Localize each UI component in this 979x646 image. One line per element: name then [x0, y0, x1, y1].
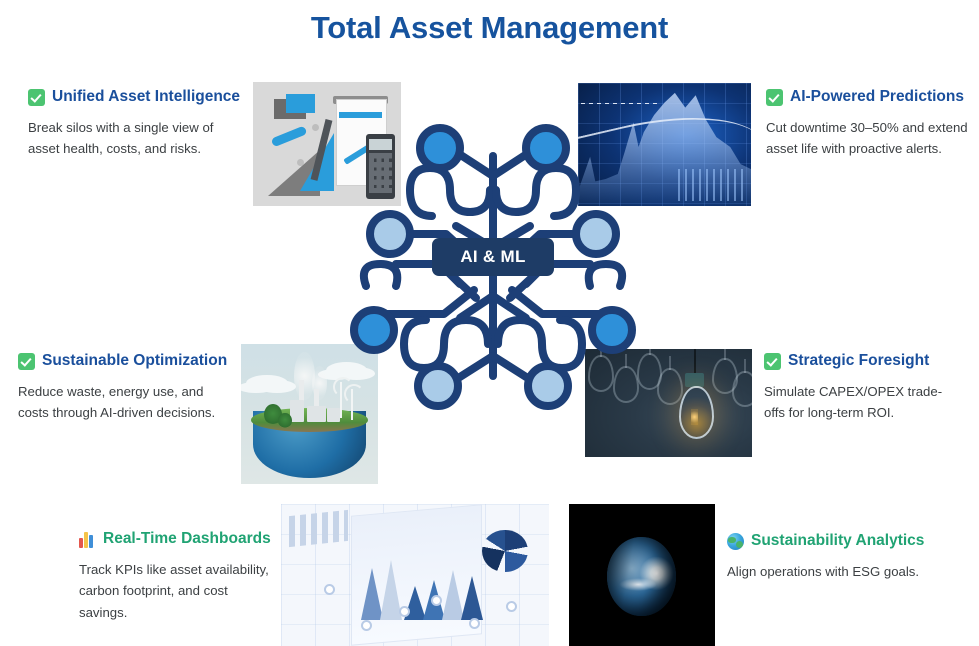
ai-ml-center-label: AI & ML [432, 238, 554, 276]
feature-title: Sustainable Optimization [42, 352, 227, 370]
feature-heading: Sustainable Optimization [18, 352, 236, 370]
feature-title: Real-Time Dashboards [103, 530, 271, 548]
line-node-6 [506, 601, 517, 612]
feature-sustainable-optimization: Sustainable Optimization Reduce waste, e… [18, 352, 236, 424]
feature-body: Cut downtime 30–50% and extend asset lif… [766, 117, 968, 160]
dashboard-side-bars [289, 509, 348, 546]
node-mid-lower-right [592, 310, 632, 350]
earth-from-space-photo [569, 504, 715, 646]
earth-terminator-shadow [607, 537, 676, 617]
factory-building-2 [307, 406, 326, 423]
factory-building-1 [290, 400, 304, 422]
check-icon [28, 89, 45, 106]
feature-body: Reduce waste, energy use, and costs thro… [18, 381, 236, 424]
check-icon [766, 89, 783, 106]
feature-heading: Unified Asset Intelligence [28, 88, 243, 106]
node-bottom-right [528, 366, 568, 406]
feature-body: Simulate CAPEX/OPEX trade-offs for long-… [764, 381, 954, 424]
feature-strategic-foresight: Strategic Foresight Simulate CAPEX/OPEX … [764, 352, 954, 424]
bulb-filament [691, 409, 698, 424]
feature-title: Unified Asset Intelligence [52, 88, 240, 106]
bulb-ghost-6 [732, 371, 752, 407]
node-mid-lower-left [354, 310, 394, 350]
line-node-1 [324, 584, 335, 595]
check-icon [764, 353, 781, 370]
bulb-ghost-4 [657, 368, 683, 404]
node-top-left [420, 128, 460, 168]
globe-icon [727, 533, 744, 550]
area-peak-6 [461, 576, 483, 620]
factory-building-3 [327, 408, 339, 422]
feature-heading: Strategic Foresight [764, 352, 954, 370]
feature-heading: AI-Powered Predictions [766, 88, 968, 106]
node-mid-upper-left [370, 214, 410, 254]
chart-dashed-line [581, 103, 661, 104]
feature-heading: Sustainability Analytics [727, 532, 939, 550]
feature-sustainability-analytics: Sustainability Analytics Align operation… [727, 532, 939, 582]
feature-title: AI-Powered Predictions [790, 88, 964, 106]
node-bottom-left [418, 366, 458, 406]
node-top-right [526, 128, 566, 168]
bulb-cap [685, 373, 703, 387]
tree-left-2 [278, 413, 292, 428]
feature-body: Break silos with a single view of asset … [28, 117, 243, 160]
feature-title: Sustainability Analytics [751, 532, 924, 550]
check-icon [18, 353, 35, 370]
feature-real-time-dashboards: Real-Time Dashboards Track KPIs like ass… [79, 530, 275, 623]
line-node-5 [469, 618, 480, 629]
feature-ai-powered-predictions: AI-Powered Predictions Cut downtime 30–5… [766, 88, 968, 160]
node-mid-upper-right [576, 214, 616, 254]
feature-unified-asset-intelligence: Unified Asset Intelligence Break silos w… [28, 88, 243, 160]
wind-turbine-1 [340, 382, 342, 418]
clip-dot [312, 124, 319, 131]
envelope-flap [286, 94, 316, 113]
bar-chart-icon [79, 531, 96, 548]
notepad-accent [339, 112, 382, 118]
line-node-4 [431, 595, 442, 606]
analytics-dashboard-graphic [281, 504, 549, 646]
feature-heading: Real-Time Dashboards [79, 530, 275, 548]
feature-body: Align operations with ESG goals. [727, 561, 939, 582]
feature-body: Track KPIs like asset availability, carb… [79, 559, 275, 623]
page-title: Total Asset Management [0, 10, 979, 46]
bulb-cord [694, 349, 696, 374]
cloud-left [246, 375, 287, 392]
feature-title: Strategic Foresight [788, 352, 929, 370]
chart-volume-bars [678, 169, 747, 201]
pie-chart [482, 530, 528, 573]
